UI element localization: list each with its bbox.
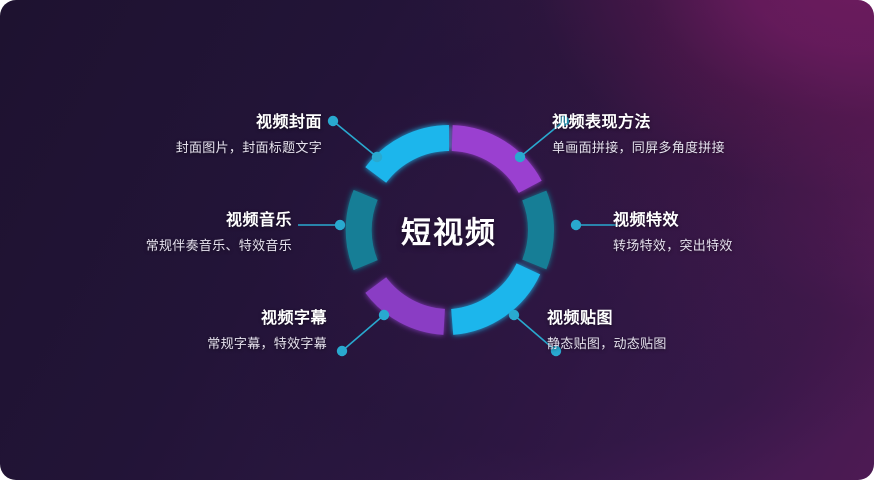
label-title-video-subtitle: 视频字幕 bbox=[0, 308, 327, 328]
donut-segment-video-music[interactable] bbox=[359, 195, 366, 265]
label-desc-video-sticker: 静态贴图，动态贴图 bbox=[547, 337, 847, 354]
label-video-effects[interactable]: 视频特效 转场特效，突出特效 bbox=[613, 210, 873, 256]
label-desc-video-music: 常规伴奏音乐、特效音乐 bbox=[0, 239, 292, 256]
label-video-cover[interactable]: 视频封面 封面图片，封面标题文字 bbox=[0, 112, 322, 158]
connector-video-cover bbox=[325, 112, 395, 172]
label-title-video-effects: 视频特效 bbox=[613, 210, 873, 230]
infographic-canvas: 短视频 视频封面 封面图片，封面标题文字 视频音乐 常规伴奏音乐、特 bbox=[0, 0, 874, 480]
label-title-video-music: 视频音乐 bbox=[0, 210, 292, 230]
donut-segment-video-effects[interactable] bbox=[534, 196, 541, 265]
connector-video-subtitle bbox=[332, 305, 402, 363]
label-title-video-sticker: 视频贴图 bbox=[547, 308, 847, 328]
label-title-video-cover: 视频封面 bbox=[0, 112, 322, 132]
label-title-video-expression-method: 视频表现方法 bbox=[552, 112, 872, 132]
label-video-music[interactable]: 视频音乐 常规伴奏音乐、特效音乐 bbox=[0, 210, 292, 256]
label-desc-video-cover: 封面图片，封面标题文字 bbox=[0, 141, 322, 158]
label-desc-video-effects: 转场特效，突出特效 bbox=[613, 239, 873, 256]
label-desc-video-subtitle: 常规字幕，特效字幕 bbox=[0, 337, 327, 354]
label-video-expression-method[interactable]: 视频表现方法 单画面拼接，同屏多角度拼接 bbox=[552, 112, 872, 158]
label-video-sticker[interactable]: 视频贴图 静态贴图，动态贴图 bbox=[547, 308, 847, 354]
label-desc-video-expression-method: 单画面拼接，同屏多角度拼接 bbox=[552, 141, 872, 158]
label-video-subtitle[interactable]: 视频字幕 常规字幕，特效字幕 bbox=[0, 308, 327, 354]
